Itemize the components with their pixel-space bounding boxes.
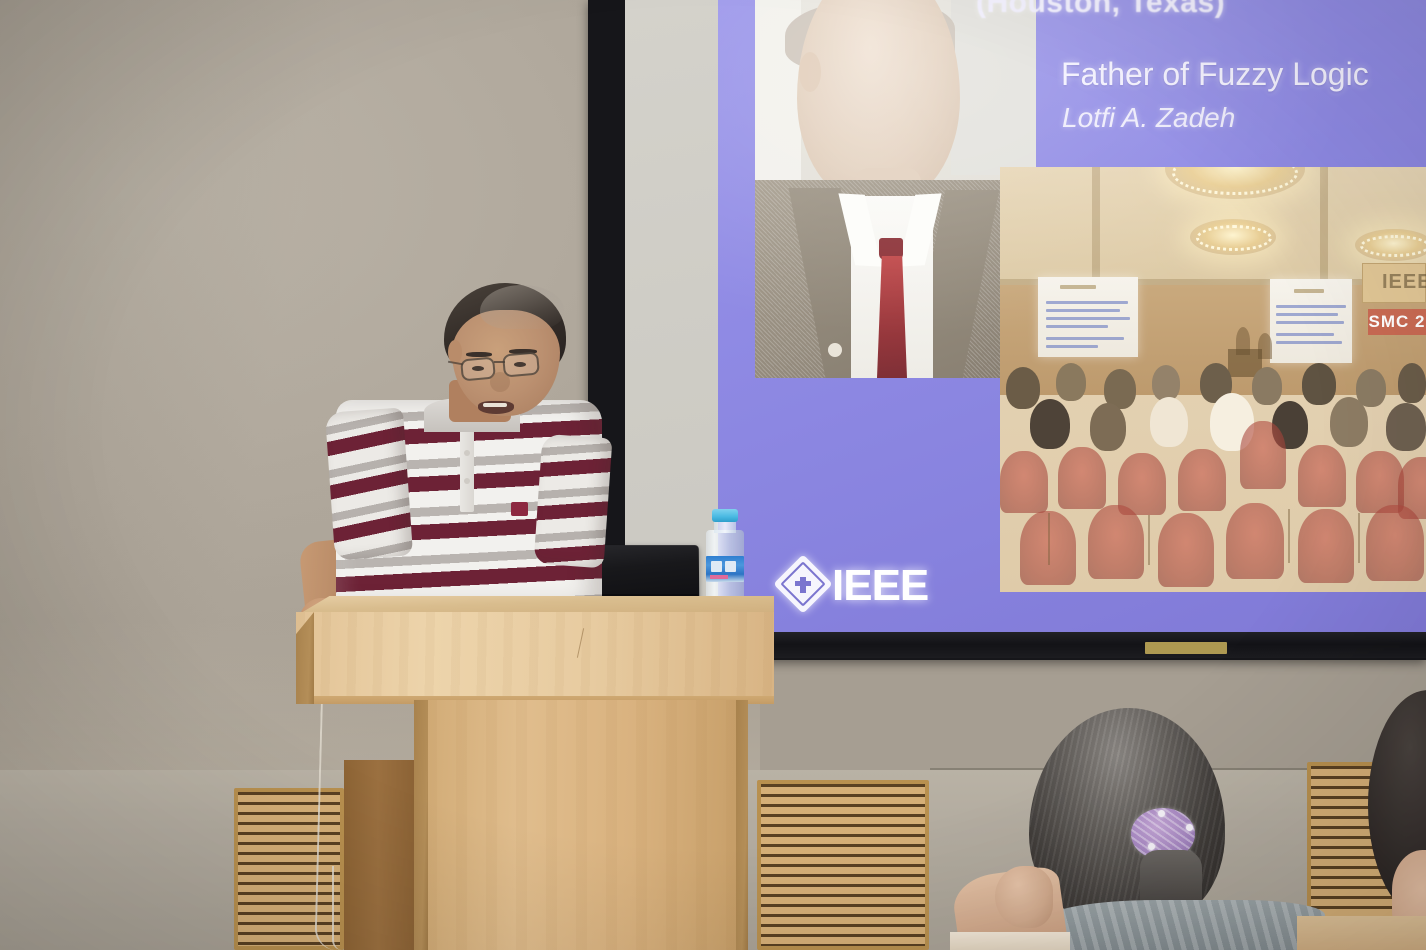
- speaker-shirt-button: [464, 478, 470, 484]
- speaker-shirt-placket: [460, 420, 474, 512]
- projection-screen-label: [1145, 642, 1227, 654]
- hall-chair-leg: [1148, 515, 1150, 565]
- hall-screen-left-line: [1046, 301, 1128, 304]
- scrunchie-pearl: [1186, 824, 1193, 831]
- water-bottle-cap[interactable]: [712, 509, 738, 522]
- hall-screen-left-line: [1046, 337, 1124, 340]
- hall-screen-left-line: [1046, 345, 1098, 348]
- scrunchie-pearl: [1148, 843, 1155, 850]
- hall-ieee-banner-text: IEEE: [1382, 271, 1426, 294]
- speaker-teeth: [483, 403, 507, 407]
- presentation-slide: (Houston, Texas) Father of Fuzzy Logic L…: [718, 0, 1426, 632]
- attendee-hand: [995, 866, 1053, 928]
- hall-audience-member: [1302, 363, 1336, 405]
- portrait-tie: [877, 256, 907, 378]
- hall-screen-right: [1270, 279, 1352, 363]
- hall-chair-leg: [1288, 509, 1290, 563]
- slide-subheading: Lotfi A. Zadeh: [1062, 102, 1235, 134]
- hall-audience-member: [1398, 363, 1426, 403]
- podium-body: [426, 700, 740, 950]
- hall-chair: [1178, 449, 1226, 511]
- hall-audience-member: [1386, 403, 1426, 451]
- front-desk-surface-left: [950, 932, 1070, 950]
- ieee-logo: IEEE: [780, 555, 980, 617]
- hall-smc-banner-text: SMC 2: [1368, 309, 1426, 335]
- speaker-shirt-logo: [511, 502, 528, 516]
- attendee-shoulder: [1045, 900, 1325, 950]
- speaker-eye-left: [472, 366, 484, 371]
- hall-audience-member: [1056, 363, 1086, 401]
- hall-chair-leg: [1358, 513, 1360, 563]
- hall-beam-2: [1092, 167, 1100, 285]
- conference-hall-photo: IEEE SMC 2: [1000, 167, 1426, 592]
- hall-chair: [1240, 421, 1286, 489]
- hall-screen-right-line: [1276, 321, 1344, 324]
- speaker-right-sleeve: [534, 434, 613, 569]
- hall-screen-left: [1038, 277, 1138, 357]
- ieee-wordmark: IEEE: [832, 561, 928, 611]
- podium-body-left-edge: [414, 700, 428, 950]
- slide-heading: Father of Fuzzy Logic: [1061, 56, 1369, 93]
- hall-chair: [1356, 451, 1404, 513]
- power-cable-lower: [332, 866, 342, 950]
- front-desk-surface: [1297, 916, 1426, 950]
- portrait-ear: [799, 52, 821, 92]
- speaker-shirt-button: [464, 450, 470, 456]
- hall-chair: [1298, 509, 1354, 583]
- speaker-glasses-bridge: [494, 361, 505, 363]
- bottle-label-accent: [710, 575, 728, 579]
- chandelier-right-ring: [1360, 235, 1426, 257]
- hall-audience: [1000, 363, 1426, 592]
- hall-screen-right-line: [1276, 341, 1342, 344]
- hall-chair: [1088, 505, 1144, 579]
- speaker-nose: [490, 372, 510, 392]
- hall-chair: [1158, 513, 1214, 587]
- hall-chair: [1366, 505, 1424, 581]
- hall-screen-right-title: [1294, 289, 1324, 293]
- hall-audience-member: [1252, 367, 1282, 405]
- hall-chair: [1298, 445, 1346, 507]
- hall-screen-right-line: [1276, 333, 1334, 336]
- wall-vent-center-right: [757, 780, 929, 950]
- speaker-hair-grey-highlight: [480, 285, 564, 329]
- hall-chair: [1000, 451, 1048, 513]
- water-bottle-label: [706, 556, 744, 582]
- chandelier-mid-ring: [1196, 225, 1272, 251]
- hall-audience-member: [1030, 399, 1070, 449]
- podium-front-panel: [296, 612, 774, 704]
- hall-audience-member: [1150, 397, 1188, 447]
- hall-audience-member: [1006, 367, 1040, 409]
- portrait-lapel-pin: [828, 343, 842, 357]
- podium-body-right-edge: [736, 700, 748, 950]
- speaker-left-sleeve: [325, 407, 413, 560]
- hall-beam-3: [1320, 167, 1328, 285]
- portrait-bg-panel: [951, 0, 1036, 175]
- ieee-kite-bar-icon: [795, 581, 811, 586]
- hall-screen-left-line: [1046, 325, 1108, 328]
- bottle-label-swatch: [725, 561, 736, 572]
- speaker-eyebrow-left: [466, 352, 492, 357]
- zadeh-portrait: [755, 0, 1036, 378]
- slide-title-cutoff: (Houston, Texas): [976, 0, 1225, 20]
- photo-scene: (Houston, Texas) Father of Fuzzy Logic L…: [0, 0, 1426, 950]
- hall-screen-left-title: [1060, 285, 1096, 289]
- hall-screen-left-line: [1046, 317, 1130, 320]
- hall-chair: [1226, 503, 1284, 579]
- hall-screen-right-line: [1276, 305, 1346, 308]
- hall-audience-member: [1090, 403, 1126, 451]
- hall-audience-member: [1330, 397, 1368, 447]
- hall-chair: [1058, 447, 1106, 509]
- scrunchie-pearl: [1158, 810, 1165, 817]
- hall-audience-member: [1152, 365, 1180, 401]
- speaker-eye-right: [514, 362, 526, 367]
- hall-chair-leg: [1048, 513, 1050, 565]
- hall-screen-right-line: [1276, 313, 1338, 316]
- hall-screen-left-line: [1046, 309, 1120, 312]
- bottle-label-swatch: [711, 561, 722, 572]
